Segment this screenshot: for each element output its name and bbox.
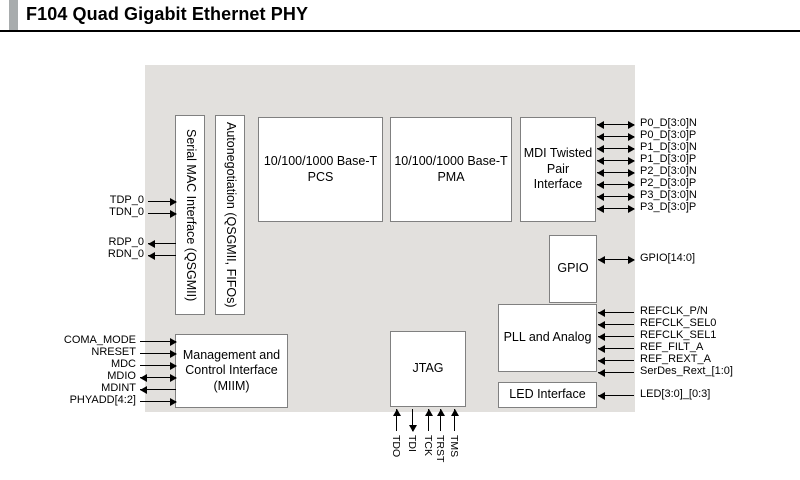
right-signal-REF_REXT_A-arrowhead-left: [598, 357, 605, 365]
right-signal-P1_D[3:0]N-arrowhead-right: [628, 145, 635, 153]
left-signal-COMA_MODE-arrowhead-right: [170, 338, 177, 346]
signal-label-COMA_MODE: COMA_MODE: [64, 335, 136, 346]
title-accent-bar: [9, 0, 18, 30]
signal-label-P2_D[3:0]N: P2_D[3:0]N: [640, 166, 697, 177]
block-pll-analog: PLL and Analog: [498, 304, 597, 372]
block-led-interface: LED Interface: [498, 382, 597, 408]
right-signal-REFCLK_SEL1-arrowhead-left: [598, 333, 605, 341]
title-bar: F104 Quad Gigabit Ethernet PHY: [0, 0, 800, 32]
right-signal-P0_D[3:0]P-arrowhead-right: [628, 133, 635, 141]
left-signal-MDINT-arrowhead-left: [140, 386, 147, 394]
signal-label-REFCLK_SEL0: REFCLK_SEL0: [640, 318, 716, 329]
right-signal-P0_D[3:0]P-arrowhead-left: [597, 133, 604, 141]
block-label: PLL and Analog: [504, 330, 592, 346]
right-signal-P2_D[3:0]P-arrowhead-right: [628, 181, 635, 189]
signal-label-TDN_0: TDN_0: [109, 207, 144, 218]
block-label: 10/100/1000 Base-T PCS: [259, 154, 382, 185]
page-title: F104 Quad Gigabit Ethernet PHY: [26, 4, 308, 25]
signal-label-P1_D[3:0]N: P1_D[3:0]N: [640, 142, 697, 153]
left-signal-TDN_0-arrowhead-right: [170, 210, 177, 218]
block-label: GPIO: [557, 261, 588, 277]
signal-label-P0_D[3:0]P: P0_D[3:0]P: [640, 130, 696, 141]
signal-label-P0_D[3:0]N: P0_D[3:0]N: [640, 118, 697, 129]
right-signal-REFCLK_SEL0-arrowhead-left: [598, 321, 605, 329]
block-gpio: GPIO: [549, 235, 597, 303]
signal-label-TRST: TRST: [434, 435, 446, 462]
signal-label-RDN_0: RDN_0: [108, 249, 144, 260]
right-signal-GPIO[14:0]-arrowhead-right: [628, 256, 635, 264]
left-signal-RDN_0-arrowhead-left: [148, 252, 155, 260]
signal-label-TDP_0: TDP_0: [110, 195, 144, 206]
bottom-signal-TMS-arrowhead-up: [451, 409, 459, 416]
left-signal-NRESET-arrowhead-right: [170, 350, 177, 358]
left-signal-PHYADD[4:2]-arrowhead-right: [170, 398, 177, 406]
block-label: Management and Control Interface (MIIM): [176, 348, 287, 395]
block-label: Serial MAC Interface (QSGMII): [182, 129, 198, 301]
signal-label-RDP_0: RDP_0: [109, 237, 144, 248]
left-signal-MDC-arrowhead-right: [170, 362, 177, 370]
right-signal-P2_D[3:0]P-arrowhead-left: [597, 181, 604, 189]
left-signal-MDIO-arrowhead-left: [140, 374, 147, 382]
block-jtag: JTAG: [390, 331, 466, 407]
right-signal-P0_D[3:0]N-arrowhead-right: [628, 121, 635, 129]
right-signal-P3_D[3:0]N-arrowhead-left: [597, 193, 604, 201]
left-signal-RDP_0-arrowhead-left: [148, 240, 155, 248]
block-management: Management and Control Interface (MIIM): [175, 334, 288, 408]
block-pma: 10/100/1000 Base-T PMA: [390, 117, 512, 222]
block-label: LED Interface: [509, 387, 585, 403]
signal-label-GPIO[14:0]: GPIO[14:0]: [640, 253, 695, 264]
left-signal-MDIO-arrowhead-right: [170, 374, 177, 382]
right-signal-P3_D[3:0]P-arrowhead-left: [597, 205, 604, 213]
right-signal-P3_D[3:0]N-arrowhead-right: [628, 193, 635, 201]
right-signal-GPIO[14:0]-arrowhead-left: [598, 256, 605, 264]
left-signal-TDP_0-arrowhead-right: [170, 198, 177, 206]
bottom-signal-TDI-arrowhead-down: [409, 425, 417, 432]
signal-label-REF_FILT_A: REF_FILT_A: [640, 342, 703, 353]
block-label: Autonegotiation (QSGMII, FIFOs): [222, 122, 238, 307]
signal-label-P3_D[3:0]N: P3_D[3:0]N: [640, 190, 697, 201]
right-signal-SerDes_Rext_[1:0]-arrowhead-left: [598, 369, 605, 377]
signal-label-TCK: TCK: [422, 435, 434, 456]
signal-label-MDIO: MDIO: [107, 371, 136, 382]
signal-label-P3_D[3:0]P: P3_D[3:0]P: [640, 202, 696, 213]
right-signal-P1_D[3:0]P-arrowhead-right: [628, 157, 635, 165]
bottom-signal-TDO-arrowhead-up: [393, 409, 401, 416]
block-serial-mac: Serial MAC Interface (QSGMII): [175, 115, 205, 315]
signal-label-REF_REXT_A: REF_REXT_A: [640, 354, 711, 365]
signal-label-TDO: TDO: [390, 435, 402, 457]
signal-label-PHYADD[4:2]: PHYADD[4:2]: [70, 395, 136, 406]
block-label: 10/100/1000 Base-T PMA: [391, 154, 511, 185]
signal-label-TDI: TDI: [406, 435, 418, 452]
block-label: MDI Twisted Pair Interface: [521, 146, 595, 193]
right-signal-P2_D[3:0]N-arrowhead-left: [597, 169, 604, 177]
signal-label-LED[3:0]_[0:3]: LED[3:0]_[0:3]: [640, 389, 710, 400]
right-signal-REFCLK_P/N-arrowhead-left: [598, 309, 605, 317]
block-pcs: 10/100/1000 Base-T PCS: [258, 117, 383, 222]
block-mdi: MDI Twisted Pair Interface: [520, 117, 596, 222]
bottom-signal-TRST-arrowhead-up: [437, 409, 445, 416]
right-signal-P3_D[3:0]P-arrowhead-right: [628, 205, 635, 213]
right-signal-P1_D[3:0]P-arrowhead-left: [597, 157, 604, 165]
right-signal-LED[3:0]_[0:3]-arrowhead-left: [598, 392, 605, 400]
right-signal-P2_D[3:0]N-arrowhead-right: [628, 169, 635, 177]
signal-label-MDINT: MDINT: [101, 383, 136, 394]
bottom-signal-TCK-arrowhead-up: [425, 409, 433, 416]
right-signal-P0_D[3:0]N-arrowhead-left: [597, 121, 604, 129]
signal-label-REFCLK_P/N: REFCLK_P/N: [640, 306, 708, 317]
right-signal-REF_FILT_A-arrowhead-left: [598, 345, 605, 353]
block-diagram: Serial MAC Interface (QSGMII)Autonegotia…: [0, 32, 800, 480]
signal-label-MDC: MDC: [111, 359, 136, 370]
signal-label-P2_D[3:0]P: P2_D[3:0]P: [640, 178, 696, 189]
block-autoneg: Autonegotiation (QSGMII, FIFOs): [215, 115, 245, 315]
signal-label-REFCLK_SEL1: REFCLK_SEL1: [640, 330, 716, 341]
right-signal-P1_D[3:0]N-arrowhead-left: [597, 145, 604, 153]
signal-label-NRESET: NRESET: [91, 347, 136, 358]
block-label: JTAG: [412, 361, 443, 377]
signal-label-SerDes_Rext_[1:0]: SerDes_Rext_[1:0]: [640, 366, 733, 377]
signal-label-P1_D[3:0]P: P1_D[3:0]P: [640, 154, 696, 165]
signal-label-TMS: TMS: [448, 435, 460, 457]
